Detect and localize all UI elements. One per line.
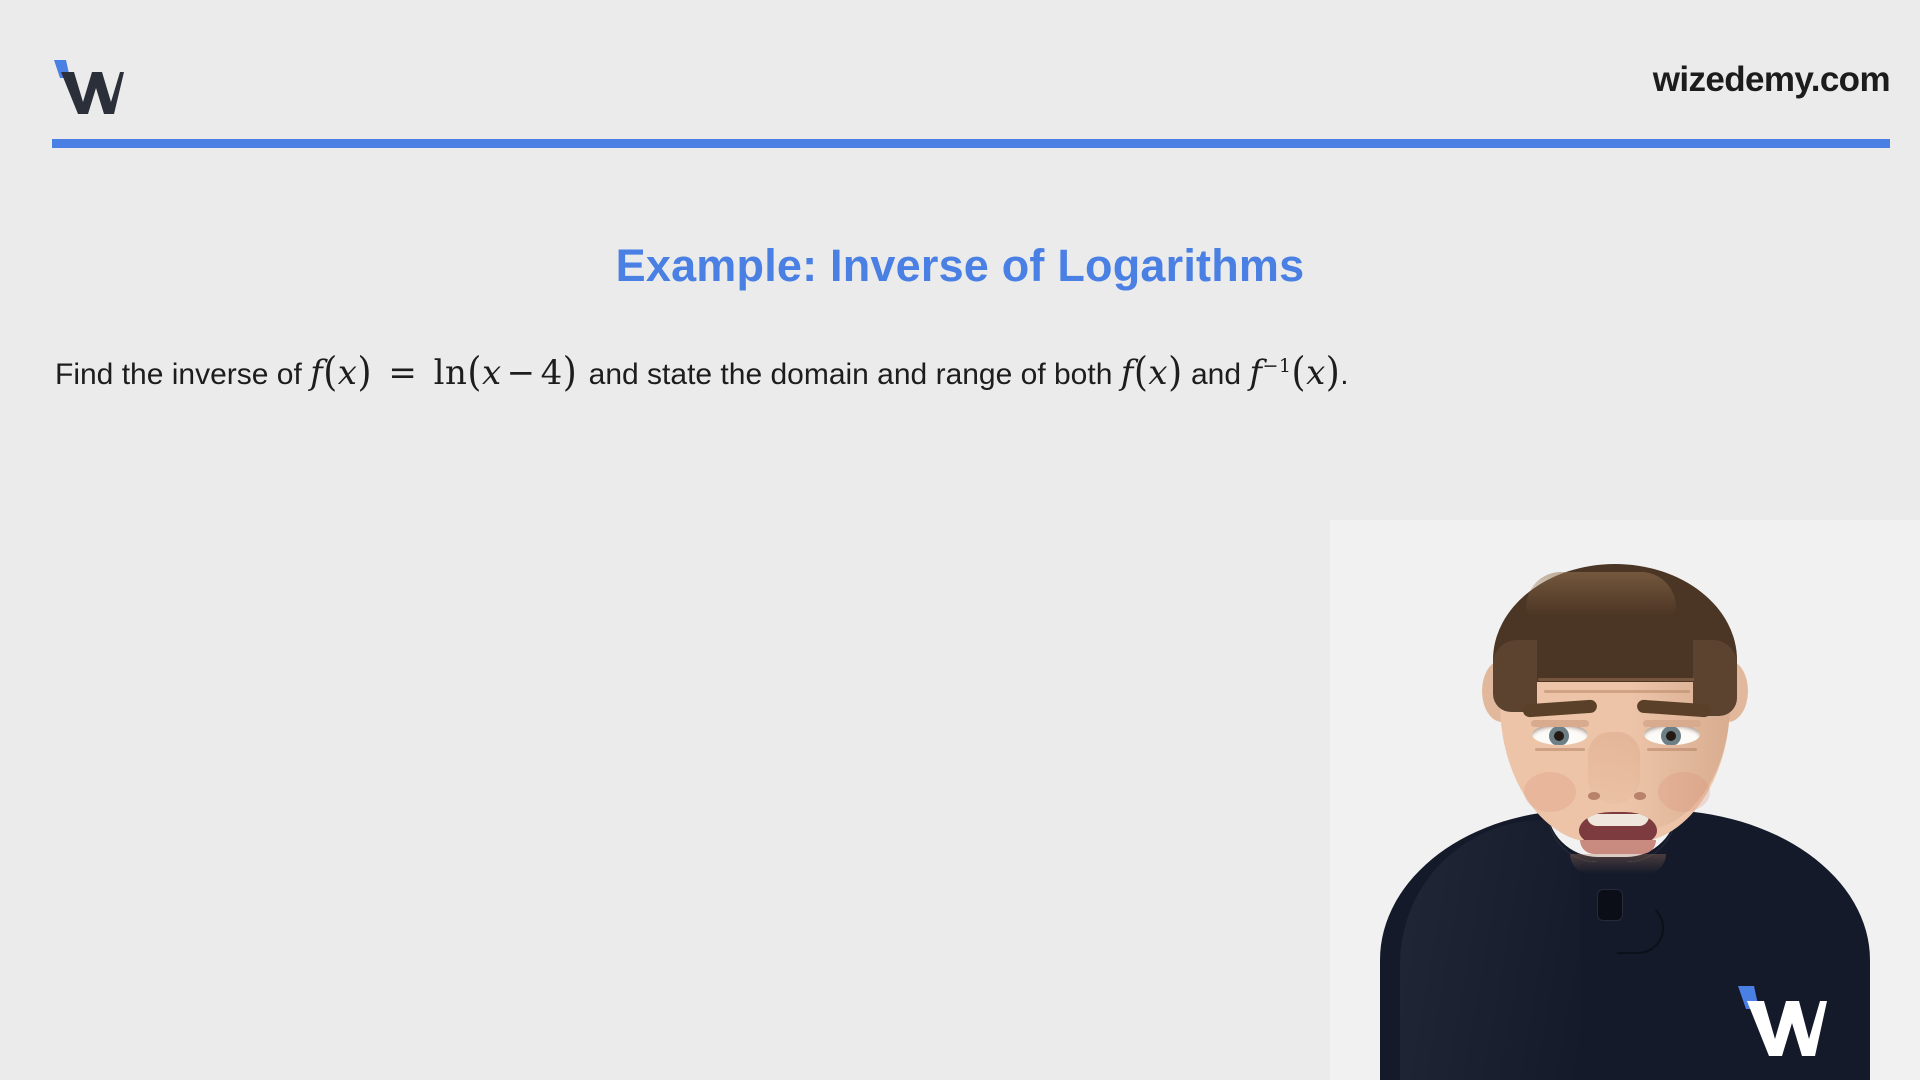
symbol-f-inverse: f [1249,353,1262,393]
statement-part-2: and state the domain and range of both [589,358,1113,391]
exponent-minus-one: −1 [1262,355,1291,377]
iris-right [1661,726,1681,745]
chin-shadow [1570,854,1666,874]
presenter-video [1330,520,1920,1080]
symbol-f: f [310,353,323,393]
page-title: Example: Inverse of Logarithms [0,240,1920,292]
cheek-left [1524,772,1576,812]
statement-part-1: Find the inverse of [55,358,302,391]
eye-right [1644,724,1700,745]
statement-part-3: and [1191,358,1241,391]
lower-lip [1580,840,1656,854]
paren-close-3: ) [1168,347,1183,397]
paren-open-4: ( [1292,347,1307,397]
paren-close: ) [357,347,372,397]
symbol-equals: = [383,353,422,393]
symbol-x-3: x [1148,353,1168,393]
cheek-right [1658,772,1710,812]
symbol-x-2: x [482,353,502,393]
eye-left [1532,724,1588,745]
eyelid-right [1643,720,1701,727]
problem-statement: Find the inverse of f(x) = ln(x−4) and s… [55,350,1855,395]
symbol-x-4: x [1306,353,1326,393]
paren-open-3: ( [1134,347,1149,397]
wizedemy-shirt-logo-icon [1735,982,1827,1056]
formula-f-of-x-first: f(x) = ln(x−4) [310,353,589,393]
eyelid-left [1531,720,1589,727]
under-eye-right [1647,748,1697,751]
statement-period: . [1340,358,1348,391]
nostril-left [1588,792,1600,800]
wizedemy-logo-icon [52,58,124,114]
forehead-crease-1 [1538,678,1694,681]
under-eye-left [1535,748,1585,751]
formula-f-of-x-second: f(x) [1121,353,1183,393]
paren-close-4: ) [1326,347,1341,397]
nostril-right [1634,792,1646,800]
slide-canvas: wizedemy.com Example: Inverse of Logarit… [0,0,1920,1080]
symbol-ln: ln [434,353,468,393]
paren-open-2: ( [467,347,482,397]
teeth [1587,814,1649,826]
header-divider [52,139,1890,148]
site-url-label: wizedemy.com [1653,60,1890,100]
symbol-four: 4 [541,353,563,393]
symbol-minus: − [502,353,541,393]
pupil-left [1554,731,1564,741]
slide-header: wizedemy.com [0,0,1920,150]
symbol-f-2: f [1121,353,1134,393]
pupil-right [1666,731,1676,741]
paren-close-2: ) [563,347,578,397]
iris-left [1549,726,1569,745]
hair-highlight [1526,572,1676,616]
paren-open: ( [323,347,338,397]
forehead-crease-2 [1544,690,1690,693]
symbol-x: x [338,353,358,393]
formula-f-inverse-of-x: f−1(x) [1249,353,1340,393]
hair-sideburn-left [1493,640,1537,712]
